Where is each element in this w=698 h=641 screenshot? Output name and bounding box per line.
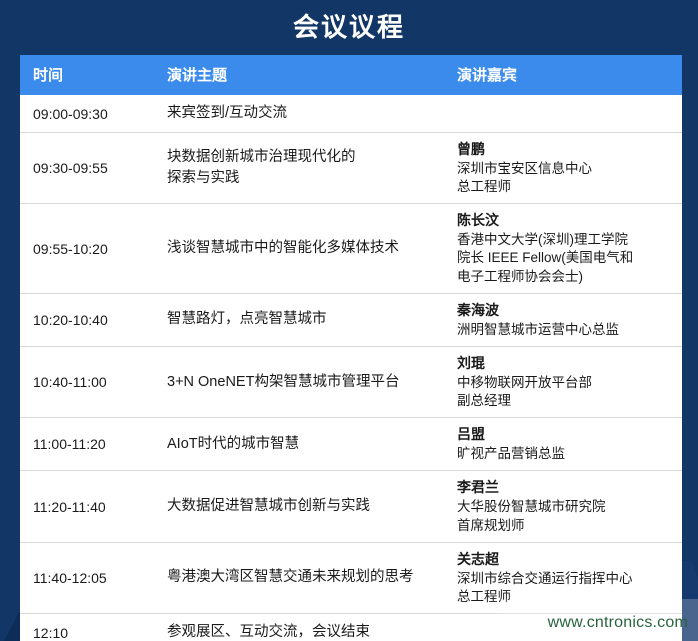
cell-guest: 秦海波洲明智慧城市运营中心总监: [445, 293, 682, 346]
cell-topic: 大数据促进智慧城市创新与实践: [155, 471, 445, 542]
cell-time: 12:10: [20, 614, 155, 641]
cell-topic: 来宾签到/互动交流: [155, 95, 445, 133]
cell-time: 10:40-11:00: [20, 347, 155, 418]
topic-line: 来宾签到/互动交流: [167, 103, 437, 124]
cell-topic: 3+N OneNET构架智慧城市管理平台: [155, 347, 445, 418]
cell-time: 09:00-09:30: [20, 95, 155, 133]
cell-time: 11:20-11:40: [20, 471, 155, 542]
cell-time: 09:30-09:55: [20, 133, 155, 204]
watermark-text: www.cntronics.com: [548, 614, 688, 632]
topic-line: 3+N OneNET构架智慧城市管理平台: [167, 372, 437, 393]
guest-name: 刘琨: [457, 354, 678, 373]
table-row: 10:20-10:40智慧路灯，点亮智慧城市秦海波洲明智慧城市运营中心总监: [20, 293, 682, 346]
guest-org-line: 院长 IEEE Fellow(美国电气和: [457, 249, 678, 267]
guest-name: 陈长汶: [457, 211, 678, 230]
cell-time: 11:40-12:05: [20, 542, 155, 613]
cell-guest: 曾鹏深圳市宝安区信息中心总工程师: [445, 133, 682, 204]
topic-line: 大数据促进智慧城市创新与实践: [167, 496, 437, 517]
column-header-guest: 演讲嘉宾: [445, 55, 682, 95]
table-row: 09:00-09:30来宾签到/互动交流: [20, 95, 682, 133]
cell-guest: [445, 95, 682, 133]
topic-line: 参观展区、互动交流，会议结束: [167, 622, 437, 641]
topic-line: 浅谈智慧城市中的智能化多媒体技术: [167, 238, 437, 259]
cell-topic: 粤港澳大湾区智慧交通未来规划的思考: [155, 542, 445, 613]
table-row: 11:00-11:20AIoT时代的城市智慧吕盟旷视产品营销总监: [20, 418, 682, 471]
table-row: 11:40-12:05粤港澳大湾区智慧交通未来规划的思考关志超深圳市综合交通运行…: [20, 542, 682, 613]
guest-org-line: 洲明智慧城市运营中心总监: [457, 321, 678, 339]
agenda-page: 会议议程 时间 演讲主题 演讲嘉宾 09:00-09:30来宾签到/互动交流09…: [0, 0, 698, 641]
guest-name: 关志超: [457, 550, 678, 569]
cell-time: 09:55-10:20: [20, 204, 155, 294]
cell-topic: 浅谈智慧城市中的智能化多媒体技术: [155, 204, 445, 294]
cell-time: 11:00-11:20: [20, 418, 155, 471]
table-row: 09:30-09:55块数据创新城市治理现代化的探索与实践曾鹏深圳市宝安区信息中…: [20, 133, 682, 204]
topic-line: AIoT时代的城市智慧: [167, 434, 437, 455]
topic-line: 智慧路灯，点亮智慧城市: [167, 309, 437, 330]
guest-org-line: 中移物联网开放平台部: [457, 374, 678, 392]
cell-guest: 李君兰大华股份智慧城市研究院首席规划师: [445, 471, 682, 542]
page-title: 会议议程: [0, 8, 698, 46]
guest-org-line: 总工程师: [457, 178, 678, 196]
cell-topic: 智慧路灯，点亮智慧城市: [155, 293, 445, 346]
agenda-table: 时间 演讲主题 演讲嘉宾 09:00-09:30来宾签到/互动交流09:30-0…: [20, 55, 682, 641]
guest-org-line: 香港中文大学(深圳)理工学院: [457, 231, 678, 249]
guest-name: 曾鹏: [457, 140, 678, 159]
agenda-table-header: 时间 演讲主题 演讲嘉宾: [20, 55, 682, 95]
guest-name: 秦海波: [457, 301, 678, 320]
guest-org-line: 总工程师: [457, 588, 678, 606]
guest-name: 吕盟: [457, 425, 678, 444]
guest-org-line: 深圳市宝安区信息中心: [457, 160, 678, 178]
guest-org-line: 大华股份智慧城市研究院: [457, 498, 678, 516]
guest-org-line: 首席规划师: [457, 517, 678, 535]
guest-org-line: 深圳市综合交通运行指挥中心: [457, 570, 678, 588]
cell-topic: 块数据创新城市治理现代化的探索与实践: [155, 133, 445, 204]
cell-topic: AIoT时代的城市智慧: [155, 418, 445, 471]
table-row: 09:55-10:20浅谈智慧城市中的智能化多媒体技术陈长汶香港中文大学(深圳)…: [20, 204, 682, 294]
guest-name: 李君兰: [457, 478, 678, 497]
topic-line: 粤港澳大湾区智慧交通未来规划的思考: [167, 567, 437, 588]
cell-guest: 关志超深圳市综合交通运行指挥中心总工程师: [445, 542, 682, 613]
guest-org-line: 副总经理: [457, 392, 678, 410]
cell-guest: 吕盟旷视产品营销总监: [445, 418, 682, 471]
table-row: 10:40-11:003+N OneNET构架智慧城市管理平台刘琨中移物联网开放…: [20, 347, 682, 418]
cell-guest: 刘琨中移物联网开放平台部副总经理: [445, 347, 682, 418]
cell-time: 10:20-10:40: [20, 293, 155, 346]
guest-org-line: 电子工程师协会会士): [457, 268, 678, 286]
table-row: 11:20-11:40大数据促进智慧城市创新与实践李君兰大华股份智慧城市研究院首…: [20, 471, 682, 542]
cell-guest: 陈长汶香港中文大学(深圳)理工学院院长 IEEE Fellow(美国电气和电子工…: [445, 204, 682, 294]
topic-line: 探索与实践: [167, 168, 437, 189]
cell-topic: 参观展区、互动交流，会议结束: [155, 614, 445, 641]
column-header-time: 时间: [20, 55, 155, 95]
agenda-table-body: 09:00-09:30来宾签到/互动交流09:30-09:55块数据创新城市治理…: [20, 95, 682, 641]
table-header-row: 时间 演讲主题 演讲嘉宾: [20, 55, 682, 95]
topic-line: 块数据创新城市治理现代化的: [167, 147, 437, 168]
guest-org-line: 旷视产品营销总监: [457, 445, 678, 463]
column-header-topic: 演讲主题: [155, 55, 445, 95]
